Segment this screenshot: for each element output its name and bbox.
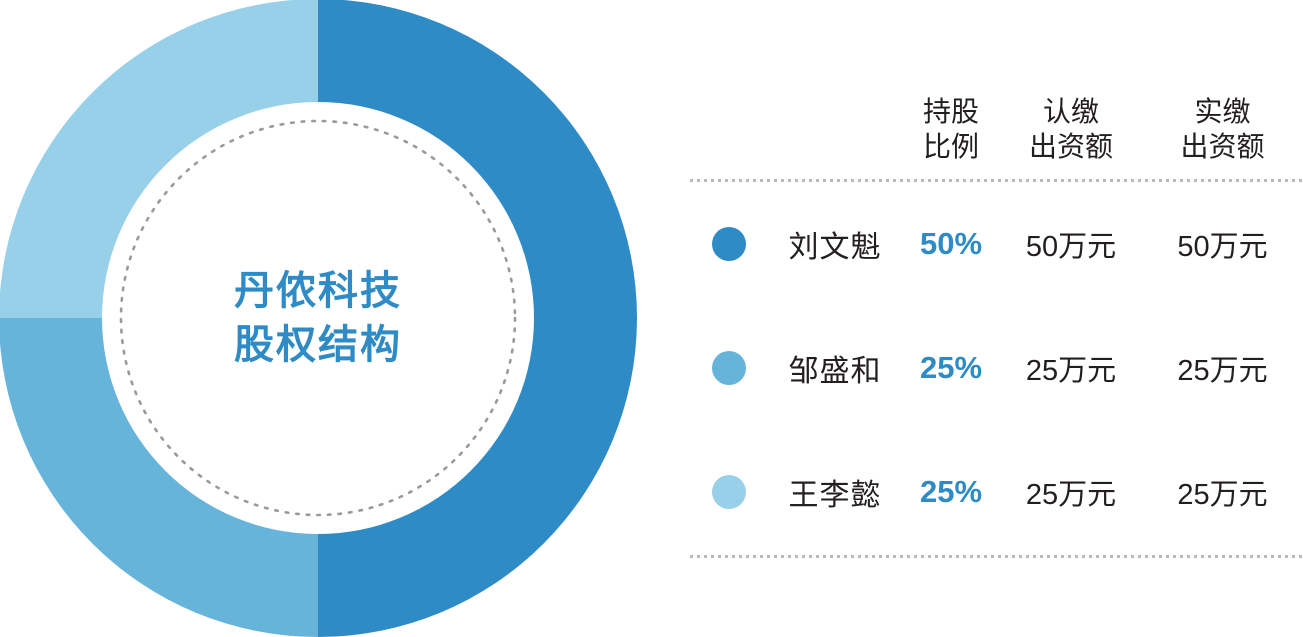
legend-dot-icon: [712, 475, 746, 509]
table-header-paid-capital: 实缴 出资额: [1142, 0, 1303, 178]
header-subscribed-line2: 出资额: [1000, 129, 1142, 164]
subscribed-capital-value: 50万元: [1000, 182, 1142, 306]
share-ratio-value: 50%: [902, 182, 1000, 306]
legend-swatch-cell: [690, 306, 768, 430]
shareholder-table-element: 持股 比例 认缴 出资额 实缴 出资额: [690, 0, 1303, 558]
header-share-ratio-line1: 持股: [902, 94, 1000, 129]
table-row[interactable]: 刘文魁50%50万元50万元: [690, 182, 1303, 306]
header-subscribed-line1: 认缴: [1000, 94, 1142, 129]
table-header-row: 持股 比例 认缴 出资额 实缴 出资额: [690, 0, 1303, 178]
table-body: 刘文魁50%50万元50万元邹盛和25%25万元25万元王李懿25%25万元25…: [690, 182, 1303, 554]
subscribed-capital-value: 25万元: [1000, 306, 1142, 430]
table-header-name: [768, 0, 902, 178]
legend-dot-icon: [712, 227, 746, 261]
table-bottom-divider: [690, 554, 1303, 558]
legend-swatch-cell: [690, 430, 768, 554]
shareholder-name: 邹盛和: [768, 306, 902, 430]
shareholder-name: 刘文魁: [768, 182, 902, 306]
share-ratio-value: 25%: [902, 430, 1000, 554]
subscribed-capital-value: 25万元: [1000, 430, 1142, 554]
paid-capital-value: 50万元: [1142, 182, 1303, 306]
donut-inner-disc: [102, 102, 534, 534]
legend-swatch-cell: [690, 182, 768, 306]
shareholding-structure-infographic: 丹侬科技 股权结构 持股 比例: [0, 0, 1303, 636]
table-row[interactable]: 邹盛和25%25万元25万元: [690, 306, 1303, 430]
header-paid-line2: 出资额: [1142, 129, 1303, 164]
donut-chart: 丹侬科技 股权结构: [0, 0, 637, 637]
header-paid-line1: 实缴: [1142, 94, 1303, 129]
share-ratio-value: 25%: [902, 306, 1000, 430]
header-share-ratio-line2: 比例: [902, 129, 1000, 164]
donut-chart-svg: [0, 0, 637, 637]
paid-capital-value: 25万元: [1142, 430, 1303, 554]
dotted-rule-bottom: [690, 555, 1303, 558]
table-header-subscribed-capital: 认缴 出资额: [1000, 0, 1142, 178]
legend-dot-icon: [712, 351, 746, 385]
table-header-share-ratio: 持股 比例: [902, 0, 1000, 178]
table-row[interactable]: 王李懿25%25万元25万元: [690, 430, 1303, 554]
shareholder-table: 持股 比例 认缴 出资额 实缴 出资额: [690, 0, 1303, 636]
shareholder-name: 王李懿: [768, 430, 902, 554]
table-header-dot: [690, 0, 768, 178]
paid-capital-value: 25万元: [1142, 306, 1303, 430]
